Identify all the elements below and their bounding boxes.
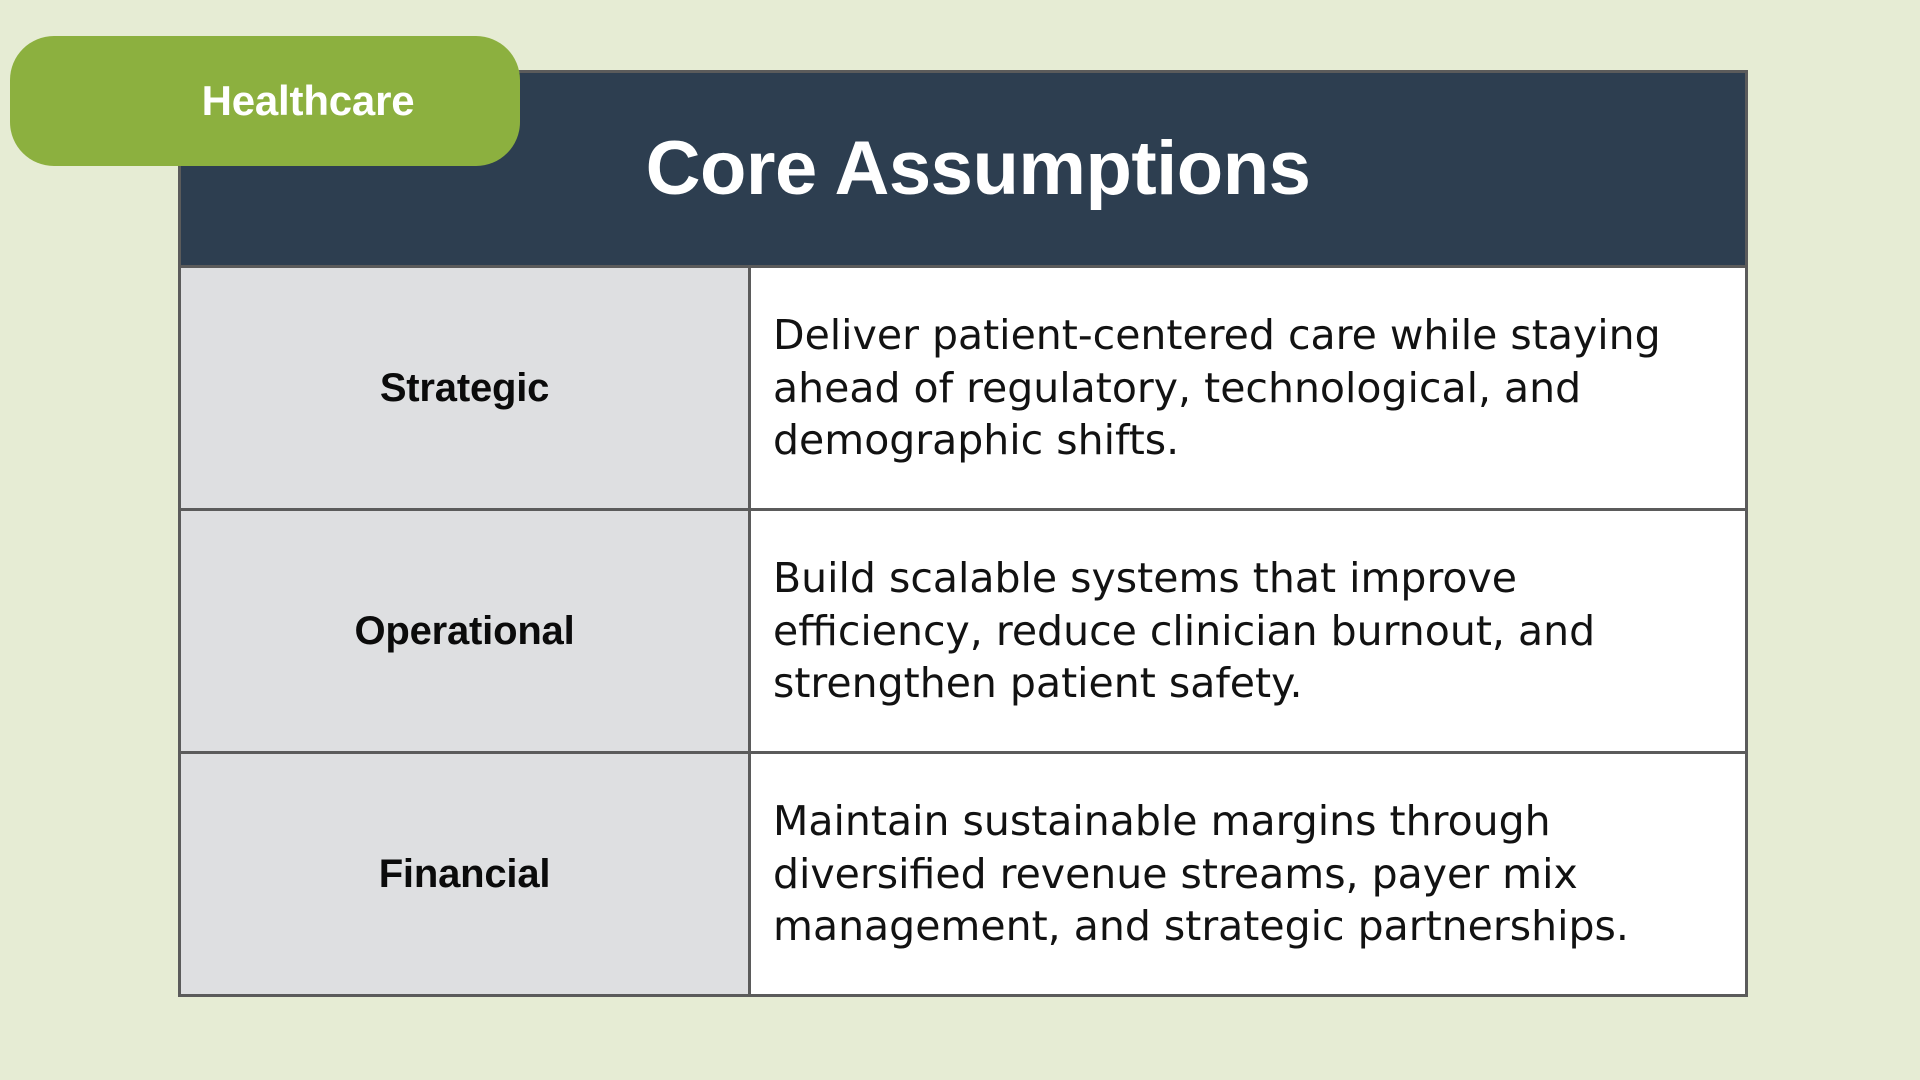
core-assumptions-table: Core Assumptions Strategic Deliver patie…	[178, 70, 1748, 997]
row-body-cell-strategic: Deliver patient-centered care while stay…	[751, 268, 1745, 508]
row-body-text: Maintain sustainable margins through div…	[773, 795, 1709, 954]
row-label-cell-strategic: Strategic	[181, 268, 751, 508]
category-badge-label: Healthcare	[116, 77, 415, 125]
table-row: Financial Maintain sustainable margins t…	[181, 751, 1745, 994]
row-label-text: Operational	[354, 609, 574, 654]
table-row: Strategic Deliver patient-centered care …	[181, 265, 1745, 508]
row-body-text: Build scalable systems that improve effi…	[773, 552, 1709, 711]
row-label-text: Financial	[379, 852, 551, 897]
table-row: Operational Build scalable systems that …	[181, 508, 1745, 751]
row-body-cell-financial: Maintain sustainable margins through div…	[751, 754, 1745, 994]
row-body-text: Deliver patient-centered care while stay…	[773, 309, 1709, 468]
row-label-cell-operational: Operational	[181, 511, 751, 751]
page-title: Core Assumptions	[646, 131, 1311, 207]
row-label-text: Strategic	[380, 366, 549, 411]
row-label-cell-financial: Financial	[181, 754, 751, 994]
row-body-cell-operational: Build scalable systems that improve effi…	[751, 511, 1745, 751]
category-badge: Healthcare	[10, 36, 520, 166]
